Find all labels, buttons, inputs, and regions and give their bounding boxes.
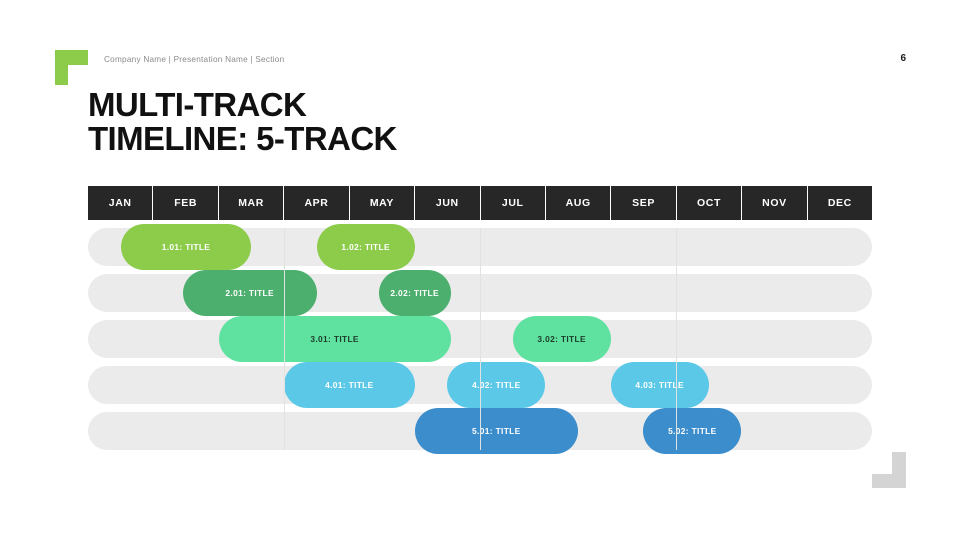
timeline-bar[interactable]: 3.02: TITLE (513, 316, 611, 362)
timeline-chart: JANFEBMARAPRMAYJUNJULAUGSEPOCTNOVDEC 1.0… (88, 186, 872, 450)
month-header-dec: DEC (808, 186, 872, 220)
month-header-may: MAY (350, 186, 415, 220)
timeline-track-row: 3.01: TITLE3.02: TITLE (88, 320, 872, 358)
corner-decoration-icon (872, 452, 906, 488)
page-title: MULTI-TRACK TIMELINE: 5-TRACK (88, 88, 397, 155)
timeline-bar[interactable]: 1.02: TITLE (317, 224, 415, 270)
month-header-mar: MAR (219, 186, 284, 220)
page-number: 6 (900, 53, 906, 64)
decoration-horizontal-bar (872, 474, 906, 488)
month-header-nov: NOV (742, 186, 807, 220)
slide-canvas: Company Name | Presentation Name | Secti… (0, 0, 960, 540)
month-header-oct: OCT (677, 186, 742, 220)
month-header-sep: SEP (611, 186, 676, 220)
timeline-bar[interactable]: 1.01: TITLE (121, 224, 252, 270)
timeline-month-header: JANFEBMARAPRMAYJUNJULAUGSEPOCTNOVDEC (88, 186, 872, 220)
timeline-track-row: 2.01: TITLE2.02: TITLE (88, 274, 872, 312)
logo-vertical-bar (55, 50, 68, 85)
timeline-track-row: 5.01: TITLE5.02: TITLE (88, 412, 872, 450)
timeline-bar[interactable]: 3.01: TITLE (219, 316, 451, 362)
timeline-tracks: 1.01: TITLE1.02: TITLE2.01: TITLE2.02: T… (88, 228, 872, 450)
brand-logo-icon (55, 50, 88, 85)
timeline-bar[interactable]: 4.01: TITLE (284, 362, 415, 408)
timeline-bar[interactable]: 4.03: TITLE (611, 362, 709, 408)
timeline-bar[interactable]: 5.02: TITLE (643, 408, 741, 454)
timeline-bar[interactable]: 2.02: TITLE (379, 270, 451, 316)
timeline-track-row: 1.01: TITLE1.02: TITLE (88, 228, 872, 266)
month-header-jul: JUL (481, 186, 546, 220)
month-header-apr: APR (284, 186, 349, 220)
month-header-jun: JUN (415, 186, 480, 220)
month-header-jan: JAN (88, 186, 153, 220)
timeline-track-row: 4.01: TITLE4.02: TITLE4.03: TITLE (88, 366, 872, 404)
breadcrumb: Company Name | Presentation Name | Secti… (104, 55, 284, 64)
timeline-bar[interactable]: 5.01: TITLE (415, 408, 578, 454)
timeline-bar[interactable]: 4.02: TITLE (447, 362, 545, 408)
month-header-aug: AUG (546, 186, 611, 220)
timeline-bar[interactable]: 2.01: TITLE (183, 270, 317, 316)
month-header-feb: FEB (153, 186, 218, 220)
